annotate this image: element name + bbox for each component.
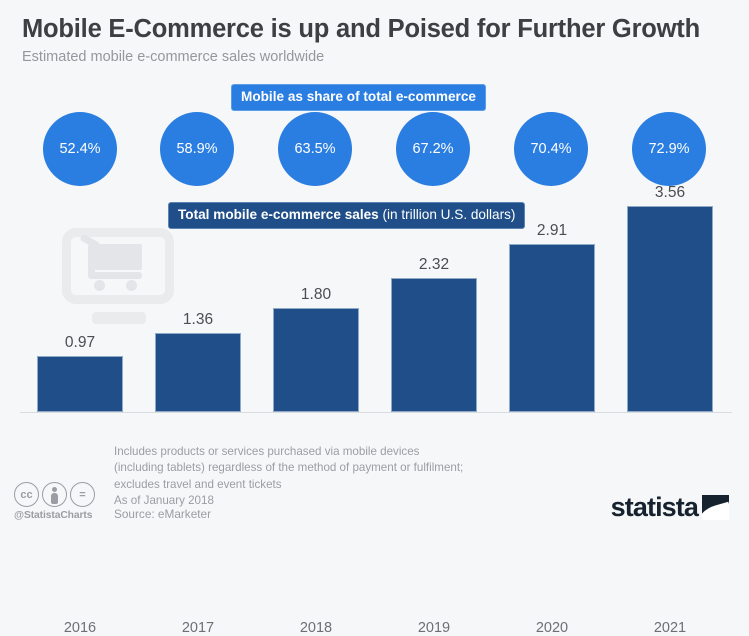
statista-charts-handle: @StatistaCharts	[14, 510, 110, 521]
cart-base	[88, 272, 142, 279]
page-title: Mobile E-Commerce is up and Poised for F…	[22, 14, 727, 44]
bar-2020	[509, 244, 595, 412]
person-head	[52, 487, 57, 492]
bar-chart: 0.97 2016 1.36 2017 1.80 2018 2.32 2019 …	[0, 210, 749, 442]
statista-logo-mark-icon	[702, 495, 729, 520]
monitor-stand	[92, 312, 146, 324]
share-circle-2019: 67.2%	[396, 112, 470, 186]
footnote-line-1: Includes products or services purchased …	[114, 444, 463, 460]
cart-wheel-right	[126, 280, 137, 291]
infographic-root: Mobile E-Commerce is up and Poised for F…	[0, 0, 749, 534]
bar-year-2017: 2017	[155, 620, 241, 636]
bar-value-2019: 2.32	[391, 256, 477, 274]
bar-year-2018: 2018	[273, 620, 359, 636]
creative-commons-block: cc = @StatistaCharts	[14, 482, 110, 521]
bar-year-2020: 2020	[509, 620, 595, 636]
bar-value-2021: 3.56	[627, 184, 713, 202]
bar-2017	[155, 333, 241, 412]
x-axis-line	[20, 412, 732, 413]
share-banner-label: Mobile as share of total e-commerce	[231, 84, 486, 111]
bar-value-2018: 1.80	[273, 286, 359, 304]
page-subtitle: Estimated mobile e-commerce sales worldw…	[22, 49, 727, 66]
share-circle-2020: 70.4%	[514, 112, 588, 186]
statista-wordmark: statista	[611, 494, 698, 521]
share-circle-2016: 52.4%	[43, 112, 117, 186]
no-derivatives-equals-icon: =	[70, 482, 95, 507]
footnote-block: Includes products or services purchased …	[114, 444, 463, 510]
share-circle-2018: 63.5%	[278, 112, 352, 186]
bar-value-2020: 2.91	[509, 222, 595, 240]
bar-value-2016: 0.97	[37, 334, 123, 352]
person-body	[51, 493, 58, 504]
bar-year-2019: 2019	[391, 620, 477, 636]
bar-value-2017: 1.36	[155, 311, 241, 329]
footnote-line-2: (including tablets) regardless of the me…	[114, 460, 463, 476]
bar-2016	[37, 356, 123, 412]
share-circle-2021: 72.9%	[632, 112, 706, 186]
bar-2019	[391, 278, 477, 412]
bar-2018	[273, 308, 359, 412]
cart-body	[94, 244, 142, 270]
attribution-person-icon	[42, 482, 67, 507]
creative-commons-icon: cc	[14, 482, 39, 507]
share-banner-wrapper: Mobile as share of total e-commerce	[231, 84, 486, 111]
share-circles-row: 52.4% 58.9% 63.5% 67.2% 70.4% 72.9%	[0, 112, 749, 190]
source-label: Source: eMarketer	[114, 507, 211, 521]
footnote-line-3: excludes travel and event tickets	[114, 477, 463, 493]
bar-year-2016: 2016	[37, 620, 123, 636]
bar-2021	[627, 206, 713, 412]
cart-wheel-left	[94, 280, 105, 291]
share-circle-2017: 58.9%	[160, 112, 234, 186]
statista-logo: statista	[611, 494, 729, 521]
header: Mobile E-Commerce is up and Poised for F…	[0, 0, 749, 66]
bar-year-2021: 2021	[627, 620, 713, 636]
footer: Includes products or services purchased …	[0, 440, 749, 534]
creative-commons-icons: cc =	[14, 482, 110, 507]
